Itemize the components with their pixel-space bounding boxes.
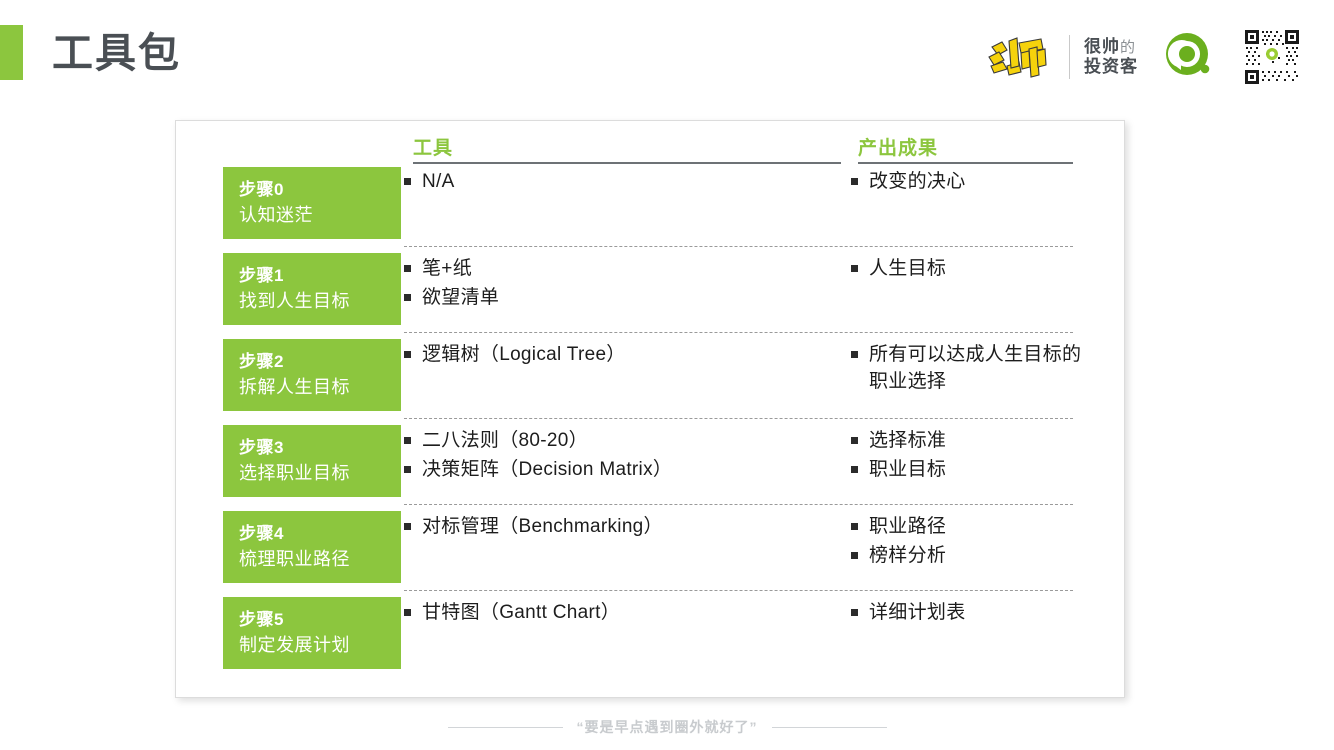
tool-label: N/A — [422, 169, 844, 196]
bullet-square-icon — [404, 609, 411, 616]
bullet-square-icon — [404, 351, 411, 358]
step-badge[interactable]: 步骤2拆解人生目标 — [223, 339, 401, 411]
slide-header: 工具包 很帅的 投资客 — [0, 0, 1334, 110]
brand-text: 很帅的 投资客 — [1084, 37, 1138, 77]
qr-code-icon — [1242, 27, 1302, 87]
output-label: 所有可以达成人生目标的职业选择 — [869, 342, 1083, 396]
tools-cell: 笔+纸欲望清单 — [404, 256, 844, 314]
tool-list-item: 笔+纸 — [404, 256, 844, 283]
step-number: 步骤0 — [239, 178, 401, 203]
step-number: 步骤5 — [239, 608, 401, 633]
tools-cell: 二八法则（80-20）决策矩阵（Decision Matrix） — [404, 428, 844, 486]
bullet-square-icon — [404, 437, 411, 444]
tool-list-item: 决策矩阵（Decision Matrix） — [404, 457, 844, 484]
q-circle-logo-icon — [1162, 30, 1216, 84]
bullet-square-icon — [851, 466, 858, 473]
tool-list-item: N/A — [404, 169, 844, 196]
tool-list-item: 对标管理（Benchmarking） — [404, 514, 844, 541]
tools-cell: 逻辑树（Logical Tree） — [404, 342, 844, 371]
output-label: 职业路径 — [869, 514, 1083, 541]
tool-list-item: 甘特图（Gantt Chart） — [404, 600, 844, 627]
output-list-item: 改变的决心 — [851, 169, 1083, 196]
bullet-square-icon — [851, 523, 858, 530]
page-title: 工具包 — [52, 27, 181, 79]
output-list-item: 职业路径 — [851, 514, 1083, 541]
bullet-square-icon — [404, 178, 411, 185]
brand-line-2: 投资客 — [1084, 57, 1138, 77]
step-badge[interactable]: 步骤3选择职业目标 — [223, 425, 401, 497]
step-badge[interactable]: 步骤4梳理职业路径 — [223, 511, 401, 583]
bullet-square-icon — [851, 437, 858, 444]
output-list-item: 榜样分析 — [851, 543, 1083, 570]
tool-label: 笔+纸 — [422, 256, 844, 283]
bullet-square-icon — [404, 265, 411, 272]
output-label: 改变的决心 — [869, 169, 1083, 196]
outputs-cell: 详细计划表 — [851, 600, 1083, 629]
bullet-square-icon — [404, 294, 411, 301]
row-divider — [404, 590, 1073, 591]
output-list-item: 职业目标 — [851, 457, 1083, 484]
footer-rule-right — [772, 727, 887, 728]
tools-cell: N/A — [404, 169, 844, 198]
brand-line-1-light: 的 — [1120, 39, 1136, 56]
shuai-wordmark-logo-icon — [985, 33, 1051, 81]
step-number: 步骤1 — [239, 264, 401, 289]
row-divider — [404, 418, 1073, 419]
title-accent-bar — [0, 25, 23, 80]
brand-cluster: 很帅的 投资客 — [985, 22, 1302, 92]
output-label: 榜样分析 — [869, 543, 1083, 570]
output-label: 职业目标 — [869, 457, 1083, 484]
outputs-cell: 人生目标 — [851, 256, 1083, 285]
step-description: 制定发展计划 — [239, 633, 401, 658]
tool-label: 二八法则（80-20） — [422, 428, 844, 455]
step-description: 认知迷茫 — [239, 203, 401, 228]
tool-list-item: 二八法则（80-20） — [404, 428, 844, 455]
bullet-square-icon — [851, 265, 858, 272]
row-divider — [404, 246, 1073, 247]
tool-list-item: 逻辑树（Logical Tree） — [404, 342, 844, 369]
output-list-item: 详细计划表 — [851, 600, 1083, 627]
step-description: 梳理职业路径 — [239, 547, 401, 572]
tool-label: 甘特图（Gantt Chart） — [422, 600, 844, 627]
bullet-square-icon — [404, 466, 411, 473]
output-list-item: 人生目标 — [851, 256, 1083, 283]
step-number: 步骤3 — [239, 436, 401, 461]
table-rows: 步骤0认知迷茫N/A改变的决心步骤1找到人生目标笔+纸欲望清单人生目标步骤2拆解… — [176, 121, 1124, 697]
bullet-square-icon — [851, 178, 858, 185]
toolkit-table-card: 工具 产出成果 步骤0认知迷茫N/A改变的决心步骤1找到人生目标笔+纸欲望清单人… — [175, 120, 1125, 698]
tool-label: 欲望清单 — [422, 285, 844, 312]
step-description: 拆解人生目标 — [239, 375, 401, 400]
output-label: 人生目标 — [869, 256, 1083, 283]
output-list-item: 所有可以达成人生目标的职业选择 — [851, 342, 1083, 396]
tools-cell: 对标管理（Benchmarking） — [404, 514, 844, 543]
output-label: 选择标准 — [869, 428, 1083, 455]
output-list-item: 选择标准 — [851, 428, 1083, 455]
step-badge[interactable]: 步骤0认知迷茫 — [223, 167, 401, 239]
row-divider — [404, 332, 1073, 333]
step-badge[interactable]: 步骤5制定发展计划 — [223, 597, 401, 669]
slide-footer: “要是早点遇到圈外就好了” — [0, 712, 1334, 742]
outputs-cell: 选择标准职业目标 — [851, 428, 1083, 486]
bullet-square-icon — [851, 552, 858, 559]
brand-divider — [1069, 35, 1070, 79]
footer-quote: “要是早点遇到圈外就好了” — [563, 717, 772, 737]
outputs-cell: 职业路径榜样分析 — [851, 514, 1083, 572]
brand-line-1: 很帅的 — [1084, 37, 1138, 57]
outputs-cell: 改变的决心 — [851, 169, 1083, 198]
row-divider — [404, 504, 1073, 505]
tool-label: 决策矩阵（Decision Matrix） — [422, 457, 844, 484]
tool-label: 对标管理（Benchmarking） — [422, 514, 844, 541]
tools-cell: 甘特图（Gantt Chart） — [404, 600, 844, 629]
bullet-square-icon — [404, 523, 411, 530]
output-label: 详细计划表 — [869, 600, 1083, 627]
step-number: 步骤4 — [239, 522, 401, 547]
bullet-square-icon — [851, 351, 858, 358]
outputs-cell: 所有可以达成人生目标的职业选择 — [851, 342, 1083, 398]
step-badge[interactable]: 步骤1找到人生目标 — [223, 253, 401, 325]
step-description: 选择职业目标 — [239, 461, 401, 486]
tool-label: 逻辑树（Logical Tree） — [422, 342, 844, 369]
step-description: 找到人生目标 — [239, 289, 401, 314]
tool-list-item: 欲望清单 — [404, 285, 844, 312]
brand-line-1-bold: 很帅 — [1084, 37, 1120, 56]
footer-rule-left — [448, 727, 563, 728]
step-number: 步骤2 — [239, 350, 401, 375]
bullet-square-icon — [851, 609, 858, 616]
